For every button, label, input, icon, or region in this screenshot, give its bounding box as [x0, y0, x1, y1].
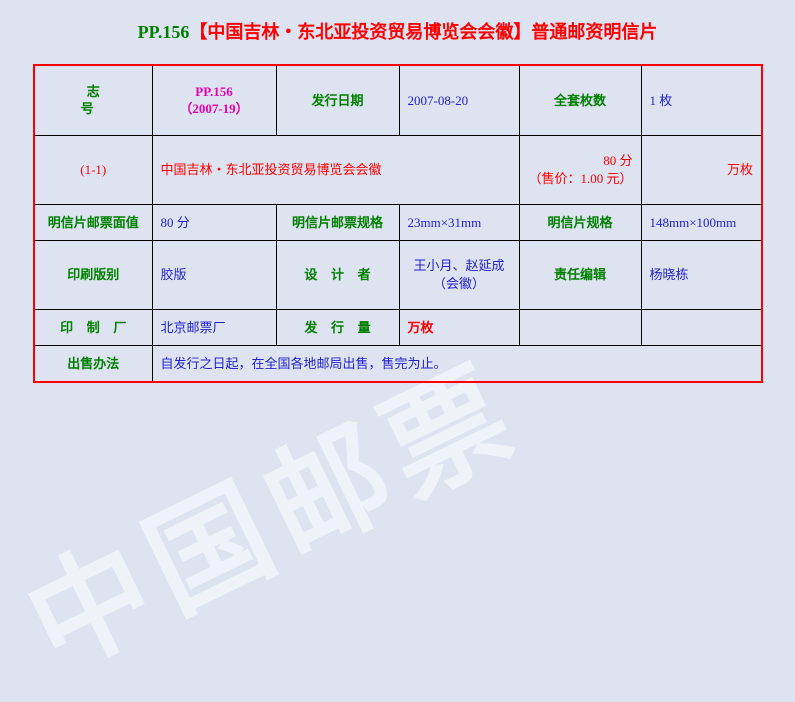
cell-label-sale-method: 出售办法 [34, 345, 152, 382]
cell-label-card-size: 明信片规格 [519, 205, 641, 241]
cell-stamp-index: (1-1) [34, 135, 152, 204]
cell-empty-row5-a [519, 310, 641, 346]
cell-label-serial: 志 号 [34, 65, 152, 135]
cell-label-stamp-size: 明信片邮票规格 [276, 205, 399, 241]
cell-stamp-subject: 中国吉林・东北亚投资贸易博览会会徽 [152, 135, 519, 204]
page-title-main: 【中国吉林・东北亚投资贸易博览会会徽】普通邮资明信片 [189, 22, 657, 42]
cell-label-set-count: 全套枚数 [519, 65, 641, 135]
cell-face-value-price: 80 分 （售价：1.00 元） [519, 135, 641, 204]
table-row: 出售办法 自发行之日起，在全国各地邮局出售，售完为止。 [34, 345, 762, 382]
serial-year-text: （2007-19） [161, 100, 268, 118]
cell-quantity: 万枚 [641, 135, 762, 204]
cell-print-process: 胶版 [152, 240, 276, 309]
page-title: PP.156【中国吉林・东北亚投资贸易博览会会徽】普通邮资明信片 [0, 0, 795, 44]
face-value-text: 80 分 [528, 152, 633, 170]
philatelic-data-table: 志 号 PP.156 （2007-19） 发行日期 2007-08-20 全套枚… [33, 64, 763, 383]
table-row: 志 号 PP.156 （2007-19） 发行日期 2007-08-20 全套枚… [34, 65, 762, 135]
cell-serial-number: PP.156 （2007-19） [152, 65, 276, 135]
cell-print-quantity: 万枚 [399, 310, 519, 346]
designer-names-text: 王小月、赵延成 [408, 257, 511, 275]
cell-stamp-size: 23mm×31mm [399, 205, 519, 241]
page-title-code: PP.156 [138, 22, 190, 42]
cell-editor: 杨晓栋 [641, 240, 762, 309]
cell-label-editor: 责任编辑 [519, 240, 641, 309]
table-row: 印 制 厂 北京邮票厂 发 行 量 万枚 [34, 310, 762, 346]
table-row: 明信片邮票面值 80 分 明信片邮票规格 23mm×31mm 明信片规格 148… [34, 205, 762, 241]
sale-price-text: （售价：1.00 元） [528, 170, 633, 188]
cell-empty-row5-b [641, 310, 762, 346]
cell-label-print-quantity: 发 行 量 [276, 310, 399, 346]
serial-code-text: PP.156 [161, 83, 268, 101]
cell-designer: 王小月、赵延成 （会徽） [399, 240, 519, 309]
table-row: (1-1) 中国吉林・东北亚投资贸易博览会会徽 80 分 （售价：1.00 元）… [34, 135, 762, 204]
cell-label-print-process: 印刷版别 [34, 240, 152, 309]
cell-label-printer: 印 制 厂 [34, 310, 152, 346]
cell-label-issue-date: 发行日期 [276, 65, 399, 135]
cell-label-designer: 设 计 者 [276, 240, 399, 309]
cell-stamp-face-value: 80 分 [152, 205, 276, 241]
cell-label-stamp-face-value: 明信片邮票面值 [34, 205, 152, 241]
cell-card-size: 148mm×100mm [641, 205, 762, 241]
cell-set-count: 1 枚 [641, 65, 762, 135]
cell-issue-date: 2007-08-20 [399, 65, 519, 135]
cell-printer: 北京邮票厂 [152, 310, 276, 346]
cell-sale-method: 自发行之日起，在全国各地邮局出售，售完为止。 [152, 345, 762, 382]
table-row: 印刷版别 胶版 设 计 者 王小月、赵延成 （会徽） 责任编辑 杨晓栋 [34, 240, 762, 309]
designer-note-text: （会徽） [408, 275, 511, 293]
